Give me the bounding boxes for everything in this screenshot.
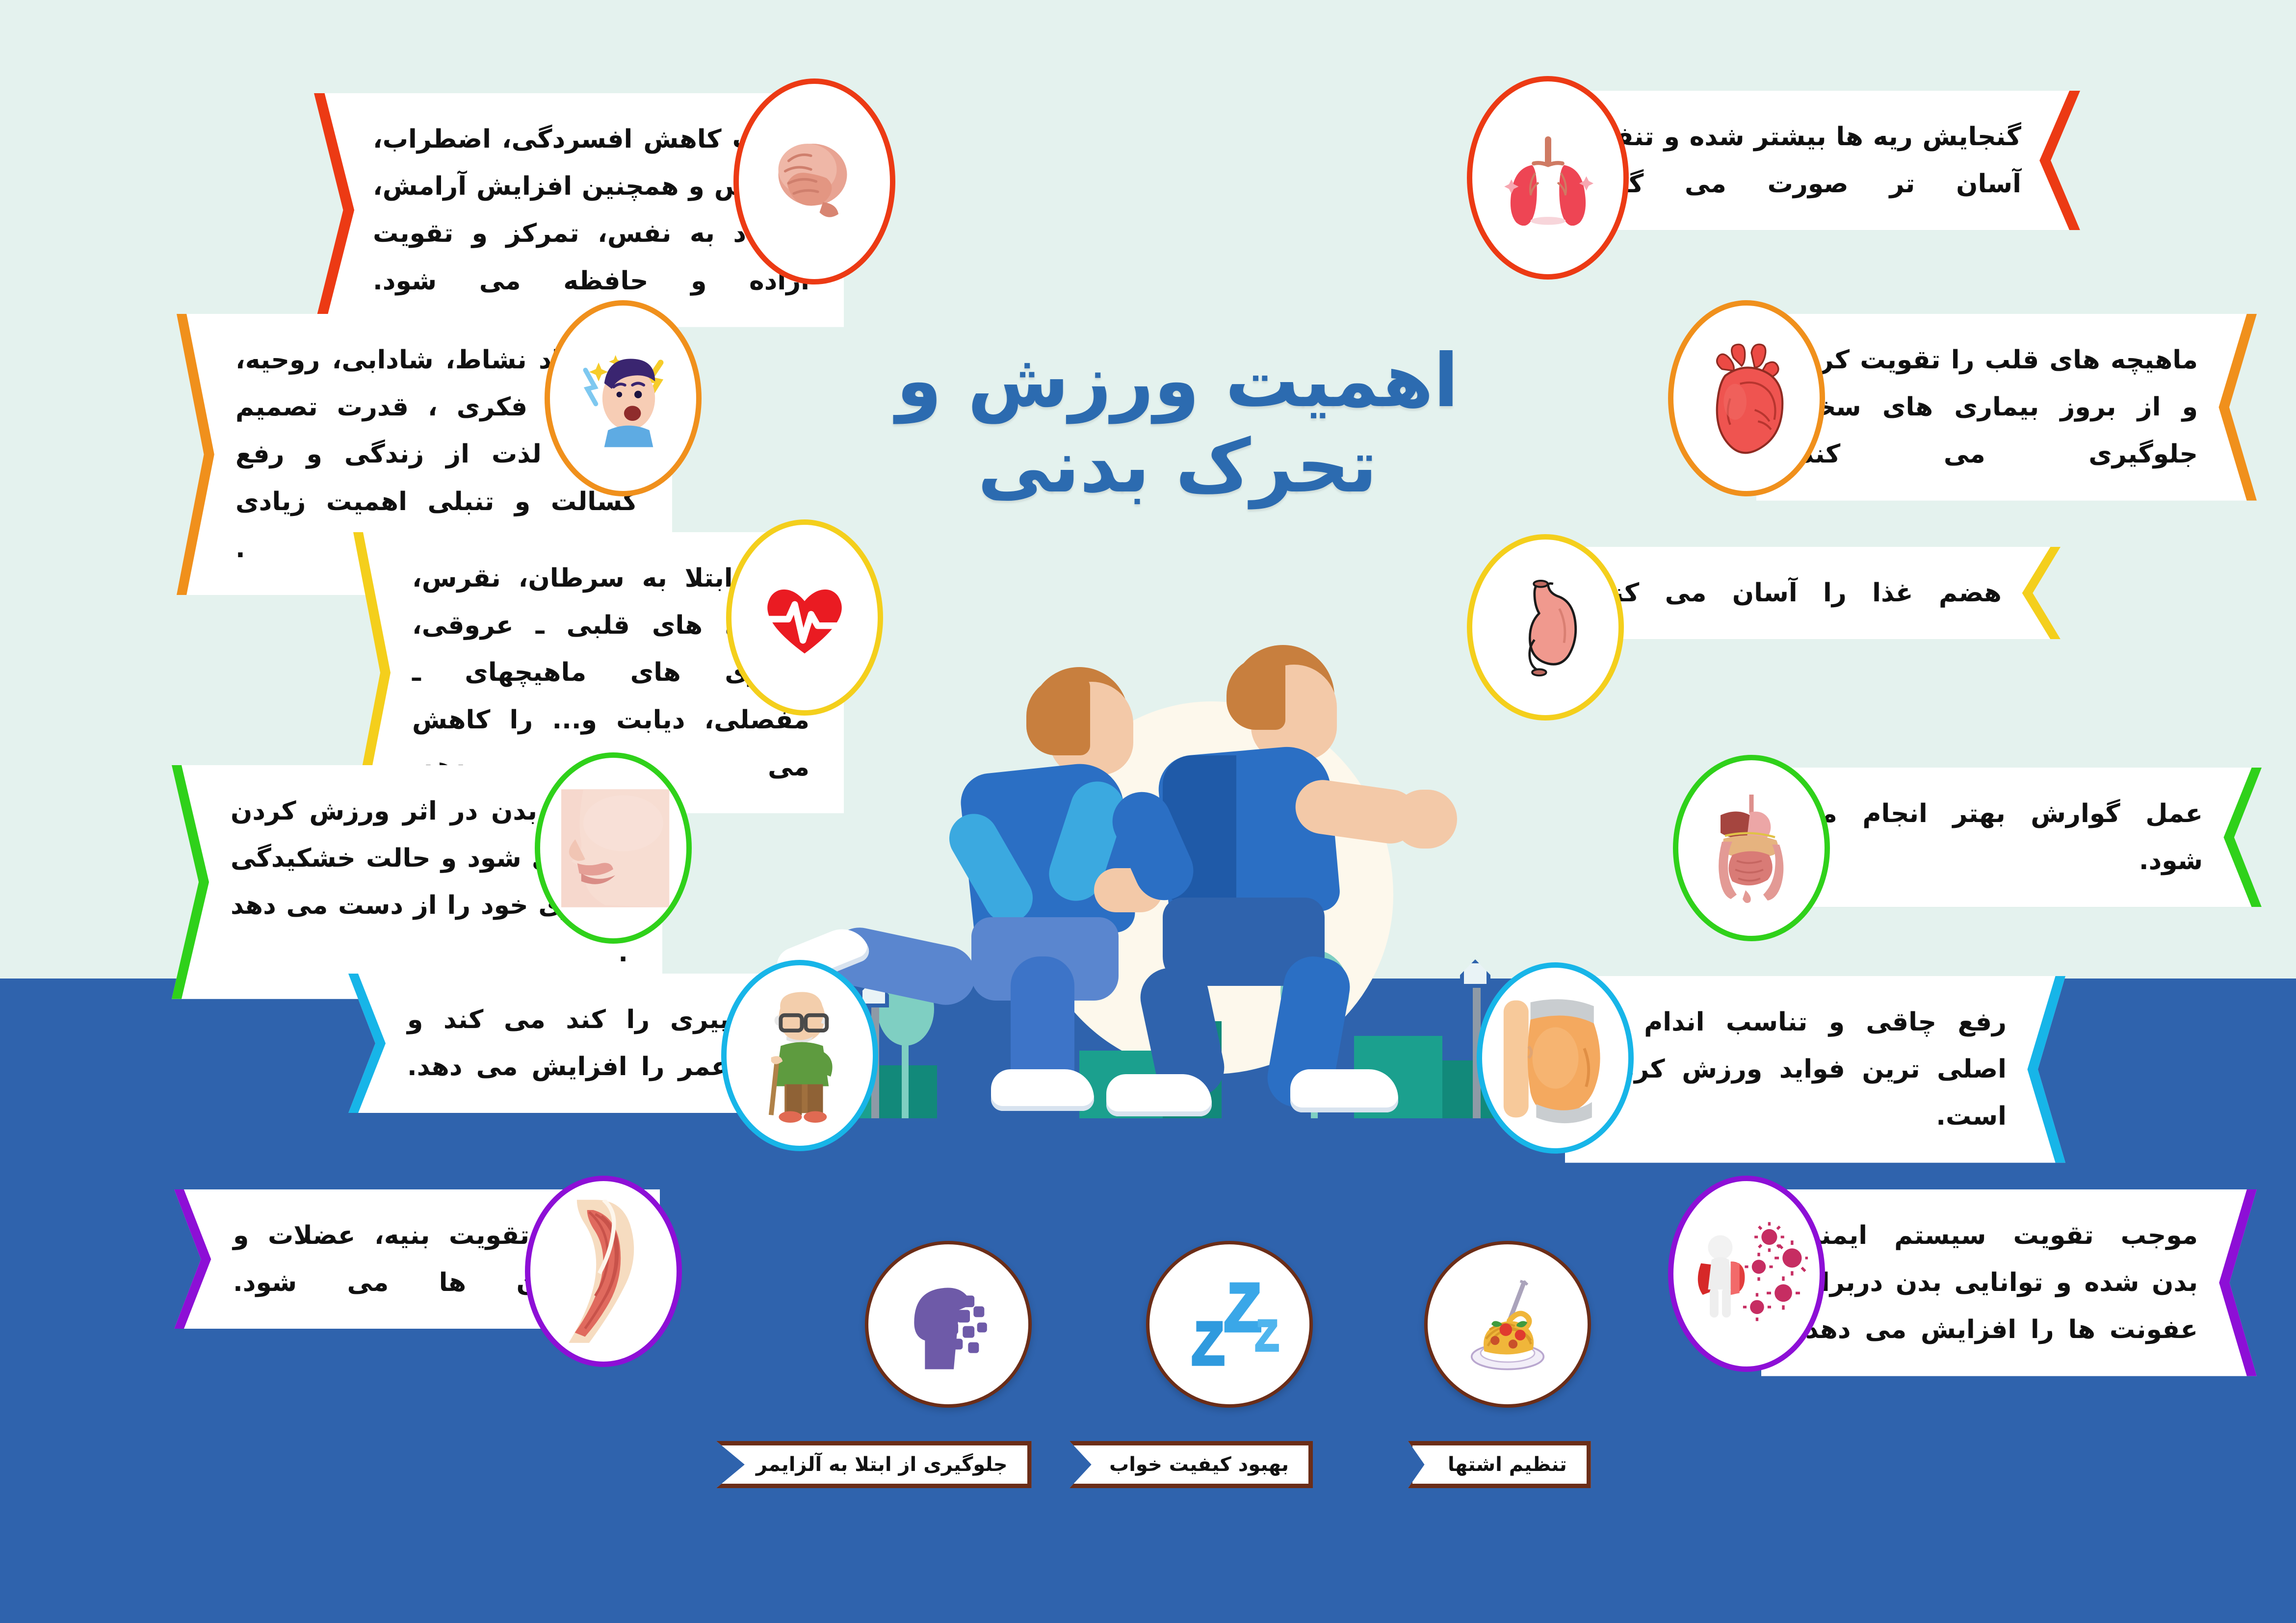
- bottom-label-sleep: بهبود کیفیت خواب: [1070, 1441, 1313, 1488]
- arm-muscle-icon: [525, 1176, 682, 1367]
- card-muscles: موجب تقویت بنیه، عضلات و استخوان ها می ش…: [91, 1189, 660, 1329]
- card-skin: پوست بدن در اثر ورزش کردن نرم می شود و ح…: [93, 765, 662, 999]
- head-puzzle-icon: [865, 1241, 1032, 1408]
- face-skin-icon: [535, 752, 692, 944]
- bottom-label-text: بهبود کیفیت خواب: [1109, 1453, 1289, 1476]
- immune-hero-icon: [1668, 1176, 1825, 1372]
- heart-organ-icon: [1668, 300, 1825, 496]
- card-digestion: عمل گوارش بهتر انجام می شود.: [1683, 768, 2262, 907]
- bottom-label-text: تنظیم اشتها: [1448, 1453, 1567, 1476]
- bottom-label-wrap: تنظیم اشتها: [1408, 1441, 1591, 1488]
- bottom-label-text: جلوگیری از ابتلا به آلزایمر: [756, 1453, 1008, 1476]
- card-text: هضم غذا را آسان می کند.: [1590, 569, 2002, 617]
- stomach-icon: [1467, 534, 1624, 721]
- bottom-label-wrap: جلوگیری از ابتلا به آلزایمر: [716, 1441, 1032, 1488]
- happy-face-icon: [545, 300, 702, 496]
- lungs-icon: [1467, 76, 1629, 280]
- elderly-man-icon: [721, 960, 878, 1151]
- card-ribbon: رفع چاقی و تناسب اندام از اصلی ترین فوای…: [1565, 976, 2065, 1163]
- card-obesity: رفع چاقی و تناسب اندام از اصلی ترین فوای…: [1487, 976, 2065, 1163]
- card-heart-muscle: ماهیچه های قلب را تقویت کرده و از بروز ب…: [1678, 314, 2257, 501]
- card-ribbon: ماهیچه های قلب را تقویت کرده و از بروز ب…: [1756, 314, 2257, 501]
- page-title: اهمیت ورزش و تحرک بدنی: [795, 338, 1560, 509]
- card-text: عمل گوارش بهتر انجام می شود.: [1796, 790, 2203, 884]
- zzz-sleep-icon: [1146, 1241, 1313, 1408]
- brain-icon: [733, 78, 895, 284]
- runner-front: [1001, 643, 1482, 1113]
- card-text: رفع چاقی و تناسب اندام از اصلی ترین فوای…: [1599, 999, 2007, 1140]
- card-ribbon: عمل گوارش بهتر انجام می شود.: [1761, 768, 2262, 907]
- card-immunity: موجب تقویت سیستم ایمنی بدن شده و توانایی…: [1678, 1189, 2257, 1376]
- card-lungs: گنجایش ریه ها بیشتر شده و تنفس آسان تر ص…: [1477, 91, 2080, 230]
- bottom-label-wrap: بهبود کیفیت خواب: [1070, 1441, 1313, 1488]
- bottom-item-appetite: تنظیم اشتها: [1393, 1241, 1591, 1488]
- bottom-label-appetite: تنظیم اشتها: [1408, 1441, 1591, 1488]
- card-aging: روند پیری را کند می کند و طول عمر را افز…: [280, 974, 839, 1113]
- intestines-icon: [1673, 755, 1830, 941]
- card-brain: موجب کاهش افسردگی، اضطراب، استرس و همچنی…: [245, 93, 844, 327]
- spaghetti-plate-icon: [1424, 1241, 1591, 1408]
- card-text: گنجایش ریه ها بیشتر شده و تنفس آسان تر ص…: [1580, 113, 2021, 207]
- card-stomach: هضم غذا را آسان می کند.: [1477, 547, 2061, 639]
- bottom-item-sleep: بهبود کیفیت خواب: [1074, 1241, 1313, 1488]
- belly-icon: [1477, 962, 1634, 1154]
- card-text: موجب تقویت سیستم ایمنی بدن شده و توانایی…: [1796, 1212, 2198, 1354]
- card-ribbon: هضم غذا را آسان می کند.: [1555, 547, 2061, 639]
- card-text: ماهیچه های قلب را تقویت کرده و از بروز ب…: [1791, 336, 2198, 478]
- bottom-item-alzheimer: جلوگیری از ابتلا به آلزایمر: [756, 1241, 1032, 1488]
- heartbeat-icon: [726, 519, 883, 716]
- card-ribbon: موجب تقویت سیستم ایمنی بدن شده و توانایی…: [1761, 1189, 2257, 1376]
- bottom-label-alzheimer: جلوگیری از ابتلا به آلزایمر: [716, 1441, 1032, 1488]
